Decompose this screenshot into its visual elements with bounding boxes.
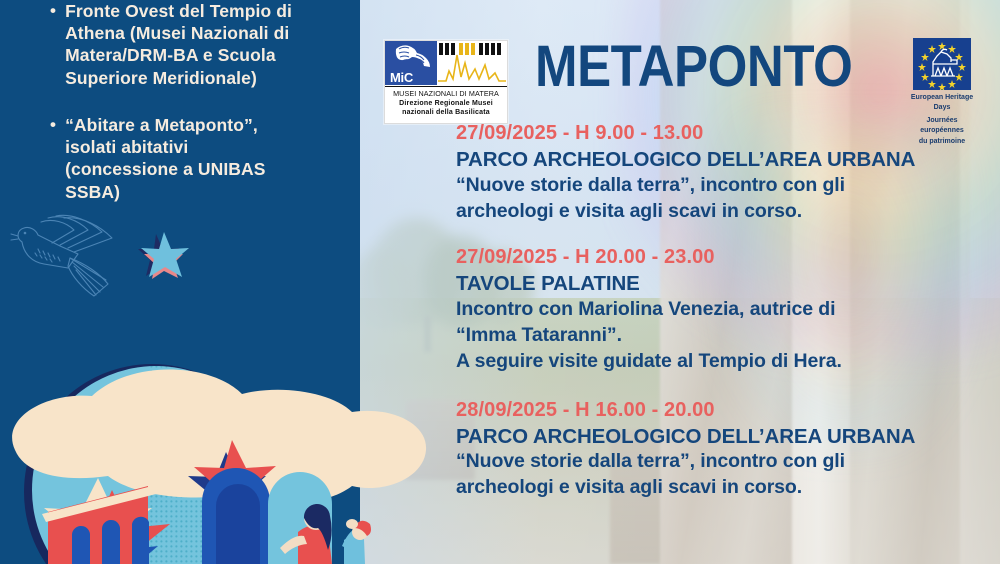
mic-logo: MiC [384, 40, 508, 124]
star-icon-small [134, 228, 196, 284]
event-location: PARCO ARCHEOLOGICO DELL’AREA URBANA [456, 424, 976, 450]
eu-stars-building-icon [913, 38, 971, 90]
event-description: “Nuove storie dalla terra”, incontro con… [456, 173, 976, 225]
list-item-label: “Abitare a Metaponto”, isolati abitativi… [65, 114, 266, 203]
list-item-label: Fronte Ovest del Tempio di Athena (Musei… [65, 0, 292, 89]
mic-wordmark: MiC [390, 70, 413, 85]
list-item: • “Abitare a Metaponto”, isolati abitati… [50, 114, 350, 203]
event-item: 28/09/2025 - H 16.00 - 20.00 PARCO ARCHE… [456, 397, 976, 501]
event-date: 27/09/2025 - H 9.00 - 13.00 [456, 120, 976, 146]
event-item: 27/09/2025 - H 9.00 - 13.00 PARCO ARCHEO… [456, 120, 976, 224]
event-list: 27/09/2025 - H 9.00 - 13.00 PARCO ARCHEO… [456, 120, 976, 521]
event-description: Incontro con Mariolina Venezia, autrice … [456, 297, 976, 375]
event-item: 27/09/2025 - H 20.00 - 23.00 TAVOLE PALA… [456, 244, 976, 374]
figure-child [342, 519, 371, 564]
event-date: 27/09/2025 - H 20.00 - 23.00 [456, 244, 976, 270]
bullet-marker-icon: • [50, 114, 56, 203]
bullet-marker-icon: • [50, 0, 56, 89]
sidebar-bullet-list: • Fronte Ovest del Tempio di Athena (Mus… [50, 0, 350, 203]
event-description: “Nuove storie dalla terra”, incontro con… [456, 449, 976, 501]
event-location: TAVOLE PALATINE [456, 271, 976, 297]
event-location: PARCO ARCHEOLOGICO DELL’AREA URBANA [456, 147, 976, 173]
decorative-illustration [0, 300, 440, 564]
lion-icon [390, 43, 432, 71]
ehd-emblem [913, 38, 971, 90]
european-heritage-days-logo: European Heritage Days Journées européen… [906, 38, 978, 126]
page-title: METAPONTO [535, 38, 852, 96]
mic-columns-icon [437, 41, 507, 85]
list-item: • Fronte Ovest del Tempio di Athena (Mus… [50, 0, 350, 89]
mic-emblem: MiC [385, 41, 437, 85]
mic-line-1: MUSEI NAZIONALI DI MATERA [385, 86, 507, 98]
event-date: 28/09/2025 - H 16.00 - 20.00 [456, 397, 976, 423]
poster-header: MiC [360, 0, 1000, 128]
poster: • Fronte Ovest del Tempio di Athena (Mus… [0, 0, 1000, 564]
dove-icon [8, 212, 138, 307]
mic-line-2: Direzione Regionale Musei nazionali dell… [385, 98, 507, 118]
arch-inner-shadow [216, 484, 260, 564]
ehd-caption-en: European Heritage Days [906, 93, 978, 113]
